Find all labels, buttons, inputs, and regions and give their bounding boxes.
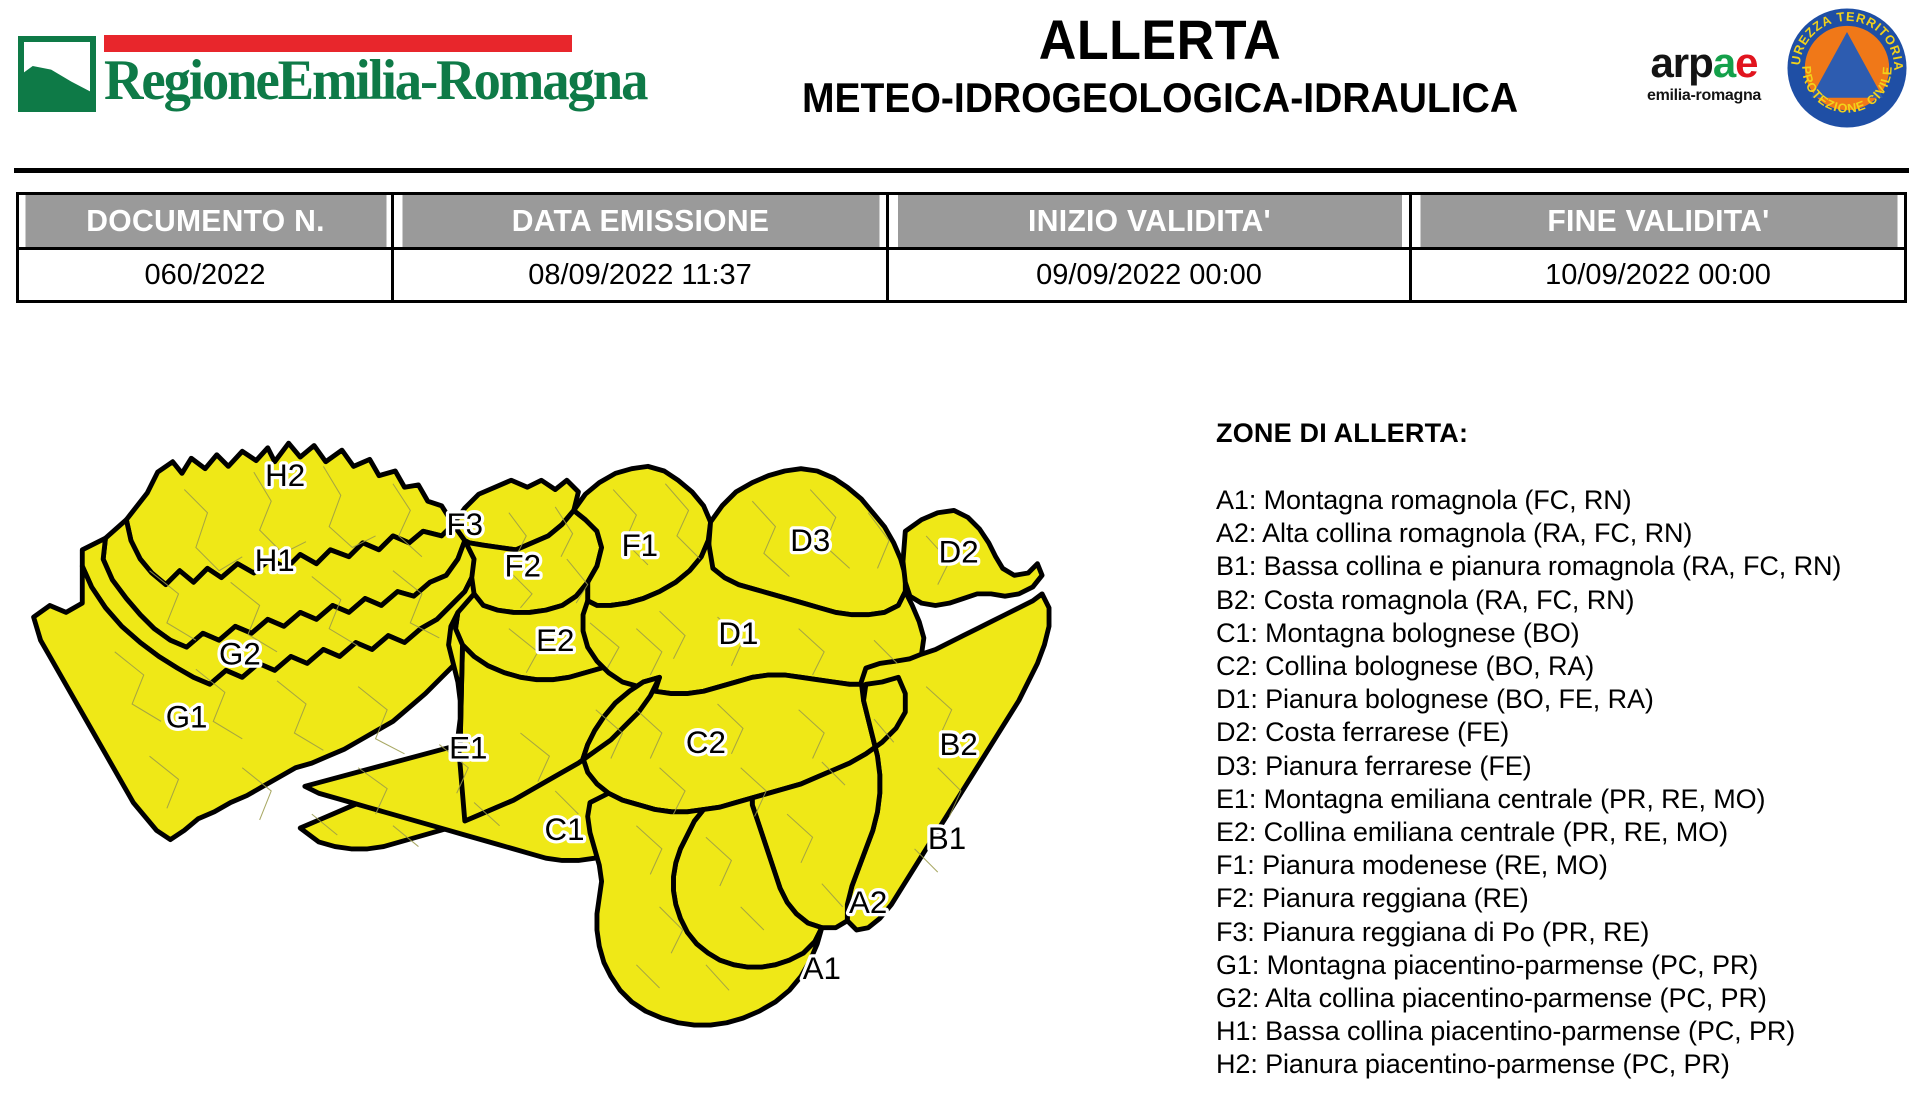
header-documento-n: DOCUMENTO N. — [23, 194, 387, 249]
table-header-row: DOCUMENTO N. DATA EMISSIONE INIZIO VALID… — [18, 194, 1906, 249]
legend-item-g1: G1: Montagna piacentino-parmense (PC, PR… — [1216, 949, 1916, 982]
legend-item-b2: B2: Costa romagnola (RA, FC, RN) — [1216, 584, 1916, 617]
map-label-C1: C1 — [544, 812, 584, 847]
arpae-part-black: arp — [1650, 39, 1712, 86]
legend-item-e1: E1: Montagna emiliana centrale (PR, RE, … — [1216, 783, 1916, 816]
arpae-part-red: e — [1735, 39, 1757, 86]
legend-item-c1: C1: Montagna bolognese (BO) — [1216, 617, 1916, 650]
map-label-D1: D1 — [718, 616, 758, 651]
header-data-emissione: DATA EMISSIONE — [400, 194, 880, 249]
header-divider-rule — [14, 168, 1909, 173]
legend-item-a1: A1: Montagna romagnola (FC, RN) — [1216, 484, 1916, 517]
alert-zones-map: H2 H1 G2 G1 F3 F2 F1 E2 E1 D3 D2 D1 C2 C… — [10, 420, 1170, 1090]
map-label-F3: F3 — [447, 507, 484, 542]
title-allerta: ALLERTA — [723, 10, 1597, 70]
flag-wave-shape — [18, 54, 96, 112]
map-label-B2: B2 — [939, 727, 977, 762]
document-title-block: ALLERTA METEO-IDROGEOLOGICA-IDRAULICA — [690, 10, 1630, 122]
legend-item-c2: C2: Collina bolognese (BO, RA) — [1216, 650, 1916, 683]
map-label-F1: F1 — [622, 528, 659, 563]
map-label-F2: F2 — [505, 549, 542, 584]
document-info-table: DOCUMENTO N. DATA EMISSIONE INIZIO VALID… — [16, 192, 1907, 303]
legend-item-list: A1: Montagna romagnola (FC, RN) A2: Alta… — [1216, 484, 1916, 1082]
value-inizio-validita: 09/09/2022 00:00 — [888, 249, 1411, 302]
protezione-civile-emblem-icon: SICUREZZA TERRITORIALE PROTEZIONE CIVILE — [1785, 6, 1909, 130]
map-label-D3: D3 — [790, 523, 830, 558]
legend-item-g2: G2: Alta collina piacentino-parmense (PC… — [1216, 982, 1916, 1015]
map-label-G2: G2 — [219, 637, 261, 672]
legend-title: ZONE DI ALLERTA: — [1216, 418, 1916, 448]
map-label-E1: E1 — [449, 731, 487, 766]
legend-item-d3: D3: Pianura ferrarese (FE) — [1216, 750, 1916, 783]
map-label-D2: D2 — [939, 535, 979, 570]
map-label-A2: A2 — [849, 885, 887, 920]
map-label-B1: B1 — [928, 821, 966, 856]
map-label-C2: C2 — [686, 725, 726, 760]
legend-item-h1: H1: Bassa collina piacentino-parmense (P… — [1216, 1015, 1916, 1048]
value-data-emissione: 08/09/2022 11:37 — [393, 249, 888, 302]
table-value-row: 060/2022 08/09/2022 11:37 09/09/2022 00:… — [18, 249, 1906, 302]
legend-item-f2: F2: Pianura reggiana (RE) — [1216, 882, 1916, 915]
map-label-A1: A1 — [803, 951, 841, 986]
logo-wordmark: RegioneEmilia-Romagna — [104, 50, 555, 112]
title-subtitle: METEO-IDROGEOLOGICA-IDRAULICA — [723, 74, 1597, 122]
allerta-bulletin-page: RegioneEmilia-Romagna ALLERTA METEO-IDRO… — [0, 0, 1920, 1114]
value-documento-n: 060/2022 — [18, 249, 393, 302]
map-label-H2: H2 — [265, 458, 305, 493]
arpae-subtitle: emilia-romagna — [1640, 87, 1768, 105]
emilia-romagna-flag-icon — [18, 36, 96, 112]
legend-item-h2: H2: Pianura piacentino-parmense (PC, PR) — [1216, 1048, 1916, 1081]
page-header: RegioneEmilia-Romagna ALLERTA METEO-IDRO… — [0, 0, 1920, 152]
arpae-part-green: a — [1713, 39, 1735, 86]
arpae-logo: arpae emilia-romagna — [1640, 42, 1768, 112]
map-label-H1: H1 — [255, 543, 295, 578]
legend-item-e2: E2: Collina emiliana centrale (PR, RE, M… — [1216, 816, 1916, 849]
map-label-E2: E2 — [536, 623, 574, 658]
arpae-wordmark: arpae — [1640, 42, 1768, 84]
value-fine-validita: 10/09/2022 00:00 — [1411, 249, 1906, 302]
legend-item-d1: D1: Pianura bolognese (BO, FE, RA) — [1216, 683, 1916, 716]
legend-item-d2: D2: Costa ferrarese (FE) — [1216, 716, 1916, 749]
header-inizio-validita: INIZIO VALIDITA' — [895, 194, 1402, 249]
regione-emilia-romagna-logo: RegioneEmilia-Romagna — [18, 30, 578, 118]
legend-item-b1: B1: Bassa collina e pianura romagnola (R… — [1216, 550, 1916, 583]
alert-zones-legend: ZONE DI ALLERTA: A1: Montagna romagnola … — [1216, 418, 1916, 1082]
legend-item-f1: F1: Pianura modenese (RE, MO) — [1216, 849, 1916, 882]
emilia-romagna-map-svg: H2 H1 G2 G1 F3 F2 F1 E2 E1 D3 D2 D1 C2 C… — [10, 420, 1170, 1090]
header-fine-validita: FINE VALIDITA' — [1418, 194, 1898, 249]
map-label-G1: G1 — [166, 699, 208, 734]
legend-item-a2: A2: Alta collina romagnola (RA, FC, RN) — [1216, 517, 1916, 550]
protezione-civile-logo: SICUREZZA TERRITORIALE PROTEZIONE CIVILE — [1785, 6, 1909, 130]
legend-item-f3: F3: Pianura reggiana di Po (PR, RE) — [1216, 916, 1916, 949]
